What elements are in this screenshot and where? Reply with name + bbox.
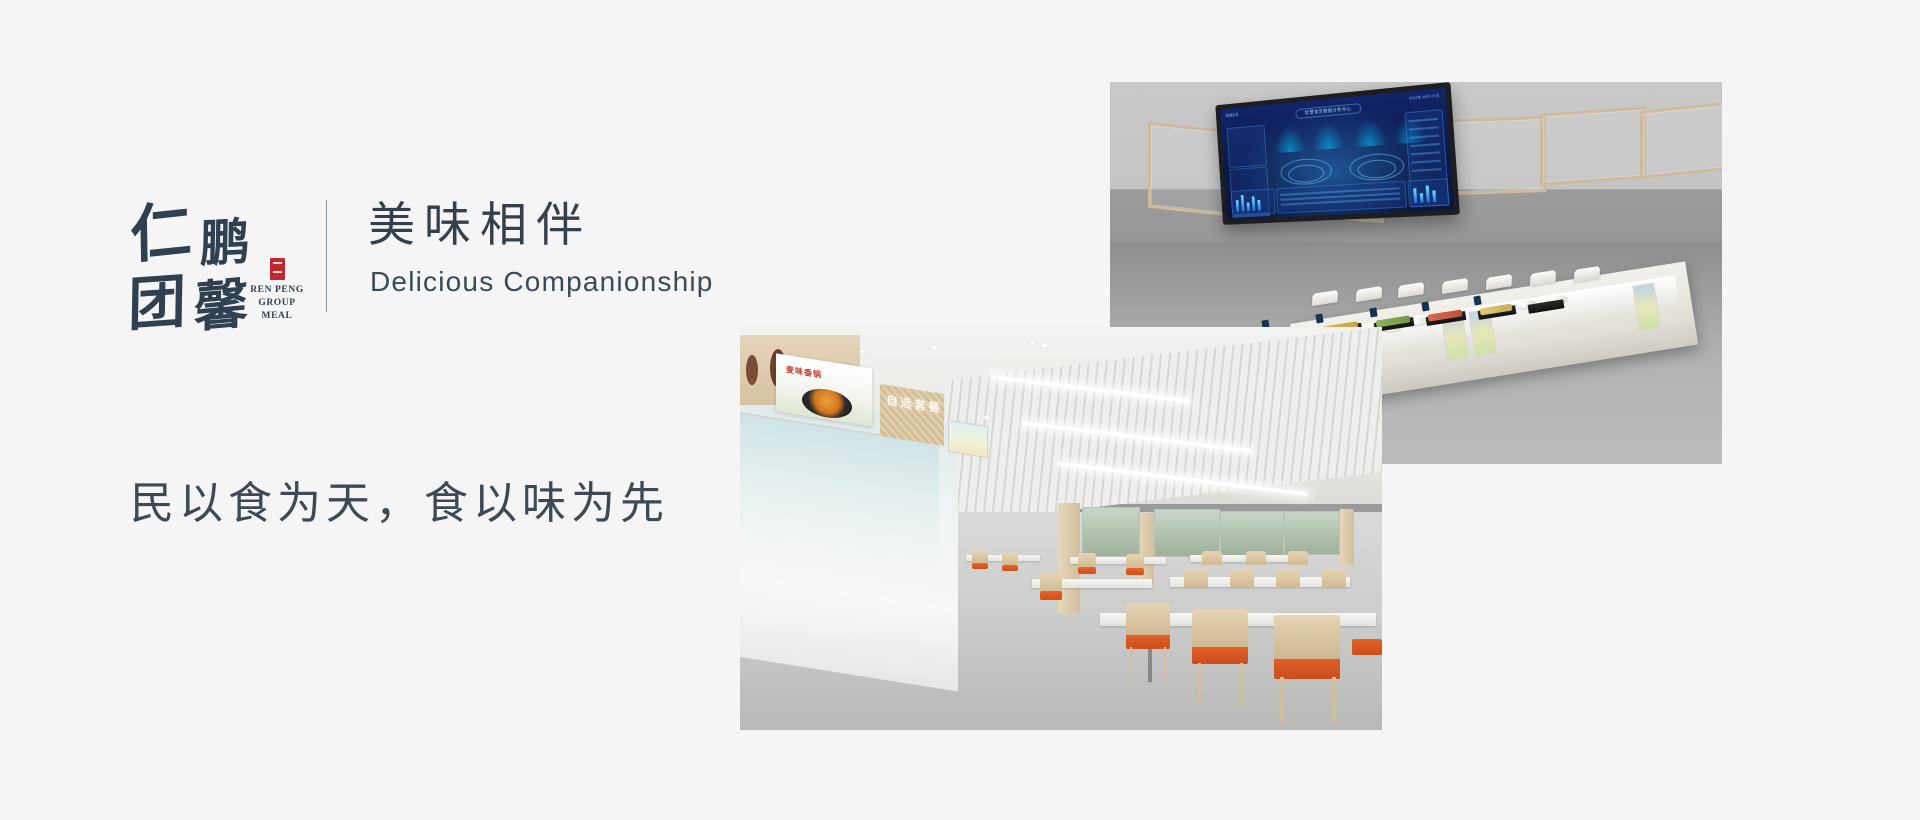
dining-chair-back (1274, 615, 1340, 659)
sneeze-guard (1312, 290, 1338, 306)
stall-sign-text: 麦味香锅 (786, 364, 822, 381)
partition-frame (1540, 106, 1646, 185)
dining-chair-seat (972, 563, 988, 569)
dining-chair-back (1192, 609, 1248, 647)
dining-chair-back (1126, 554, 1144, 568)
logo-english-line-2: GROUP (244, 297, 310, 310)
dining-chair-leg (1332, 677, 1336, 723)
cafeteria-interior-photo: 麦味香锅 自选套餐 (740, 327, 1382, 730)
stall-wall-sign: 自选套餐 (880, 384, 944, 446)
digital-menu-board (948, 420, 988, 458)
interior-window (1154, 509, 1220, 557)
dining-chair-leg (1240, 663, 1243, 705)
ceiling-downlight (1028, 341, 1037, 346)
dining-chair-leg (1164, 647, 1166, 681)
dining-chair-seat (1040, 591, 1062, 600)
page-title: 美味相伴 (368, 196, 592, 254)
logo-char-2: 鹏 (200, 217, 251, 270)
dining-chair-back (1040, 573, 1062, 591)
dining-chair-back (1230, 569, 1254, 587)
sneeze-guard (1486, 274, 1512, 290)
dining-chair-back (1276, 569, 1300, 587)
dining-chair-back (1184, 569, 1208, 587)
interior-window (1284, 511, 1340, 555)
brand-divider (326, 200, 327, 312)
logo-char-4: 馨 (194, 276, 249, 335)
dining-chair-seat (1126, 568, 1144, 575)
dining-chair-seat (1352, 639, 1382, 655)
sneeze-guard (1356, 286, 1382, 302)
logo-english-line-3: MEAL (244, 310, 310, 323)
dashboard-kpi (1274, 125, 1306, 153)
dining-chair-back (1126, 603, 1170, 635)
dining-chair-back (1078, 553, 1096, 567)
dashboard-kpi (1352, 118, 1386, 147)
price-tag-screen (1369, 308, 1377, 318)
partition-frame (1640, 101, 1722, 179)
hero-banner: 仁 鹏 团 馨 REN PENG GROUP MEAL 美味相伴 Delicio… (0, 0, 1920, 820)
dashboard-bar (1247, 202, 1250, 211)
red-seal-stamp-icon (270, 258, 285, 280)
interior-window (1082, 507, 1140, 557)
price-tag-screen (1315, 314, 1323, 324)
dashboard-panel-score (1227, 125, 1267, 168)
stall-wall-sign-text: 自选套餐 (886, 391, 942, 417)
dining-chair-back (972, 551, 988, 563)
dashboard-kpi (1311, 122, 1344, 150)
interior-column (1340, 509, 1354, 565)
wall-decor-leaf (746, 355, 758, 385)
logo-calligraphy: 仁 鹏 团 馨 (128, 196, 258, 346)
ceiling-downlight (982, 415, 991, 420)
sneeze-guard (1442, 278, 1468, 294)
dining-chair-leg (1130, 647, 1132, 681)
dining-chair-seat (1192, 645, 1248, 664)
dashboard-bar (1420, 193, 1424, 203)
dining-chair-back (1202, 551, 1222, 565)
dining-chair-seat (1078, 567, 1096, 574)
dining-chair-seat (1002, 565, 1018, 571)
dining-chair-back (1002, 553, 1018, 565)
dining-chair-back (1322, 569, 1346, 587)
tagline: 民以食为天，食以味为先 (130, 473, 669, 535)
logo-english-block: REN PENG GROUP MEAL (244, 258, 310, 323)
page-subtitle: Delicious Companionship (370, 264, 714, 300)
logo-english-line-1: REN PENG (244, 284, 310, 297)
logo-char-3: 团 (128, 272, 187, 334)
price-tag-screen (1473, 296, 1481, 306)
sneeze-guard (1398, 282, 1424, 298)
dining-chair-leg (1198, 663, 1201, 705)
dining-chair-back (1246, 551, 1266, 565)
ceiling-downlight (1040, 343, 1049, 348)
dining-chair-leg (1280, 677, 1284, 723)
dining-chair-seat (1274, 657, 1340, 679)
wok-dish-photo (802, 386, 852, 422)
brand-block: 仁 鹏 团 馨 REN PENG GROUP MEAL 美味相伴 Delicio… (128, 196, 748, 376)
brand-logo: 仁 鹏 团 馨 REN PENG GROUP MEAL (128, 196, 308, 356)
dashboard-display: 数据总览 2024年 08月 09日 智慧食堂数据分析中心 (1215, 82, 1460, 225)
ceiling-downlight (930, 345, 939, 350)
dining-chair-back (1288, 551, 1308, 565)
logo-char-1: 仁 (130, 199, 193, 268)
price-tag-screen (1421, 302, 1429, 312)
